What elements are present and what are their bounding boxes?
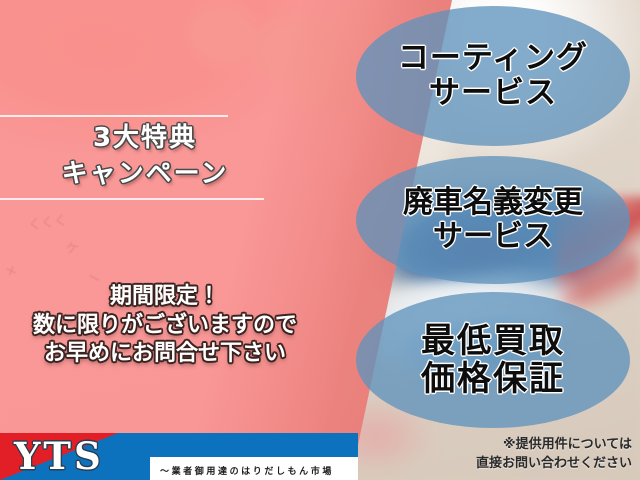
benefit-bubble-scrapping: 廃車名義変更 サービス <box>356 156 630 284</box>
promo-banner: くくく ケ × ー 3大特典 キャンペーン 期間限定！ 数に限りがございますので… <box>0 0 640 480</box>
logo-bar: YTS ～業者御用達のはりだしもん市場 <box>0 433 358 480</box>
limited-line-3: お早めにお問合せ下さい <box>0 340 330 369</box>
headline-rule-bottom <box>0 198 264 200</box>
limited-line-1: 期間限定！ <box>0 283 330 312</box>
benefit-2-line-1: 廃車名義変更 <box>403 186 583 220</box>
disclaimer-line-2: 直接お問い合わせください <box>476 455 632 474</box>
headline-line-1: 3大特典 <box>0 122 290 154</box>
logo-wordmark: YTS <box>14 434 104 478</box>
benefit-bubble-price-guarantee: 最低買取 価格保証 <box>356 292 630 428</box>
disclaimer-line-1: ※提供用件については <box>476 436 632 455</box>
headline-line-2: キャンペーン <box>0 158 290 190</box>
benefit-2-line-2: サービス <box>433 220 553 254</box>
headline-rule-top <box>0 115 228 117</box>
benefit-3-line-2: 価格保証 <box>421 360 565 398</box>
benefit-3-line-1: 最低買取 <box>421 322 565 360</box>
campaign-headline: 3大特典 キャンペーン <box>0 122 290 190</box>
benefit-1-line-2: サービス <box>429 76 557 111</box>
limited-offer-text: 期間限定！ 数に限りがございますので お早めにお問合せ下さい <box>0 283 330 369</box>
limited-line-2: 数に限りがございますので <box>0 312 330 341</box>
disclaimer-text: ※提供用件については 直接お問い合わせください <box>476 436 632 474</box>
logo-tagline: ～業者御用達のはりだしもん市場 <box>140 464 354 477</box>
benefit-1-line-1: コーティング <box>398 41 588 76</box>
benefit-bubble-coating: コーティング サービス <box>356 6 630 146</box>
